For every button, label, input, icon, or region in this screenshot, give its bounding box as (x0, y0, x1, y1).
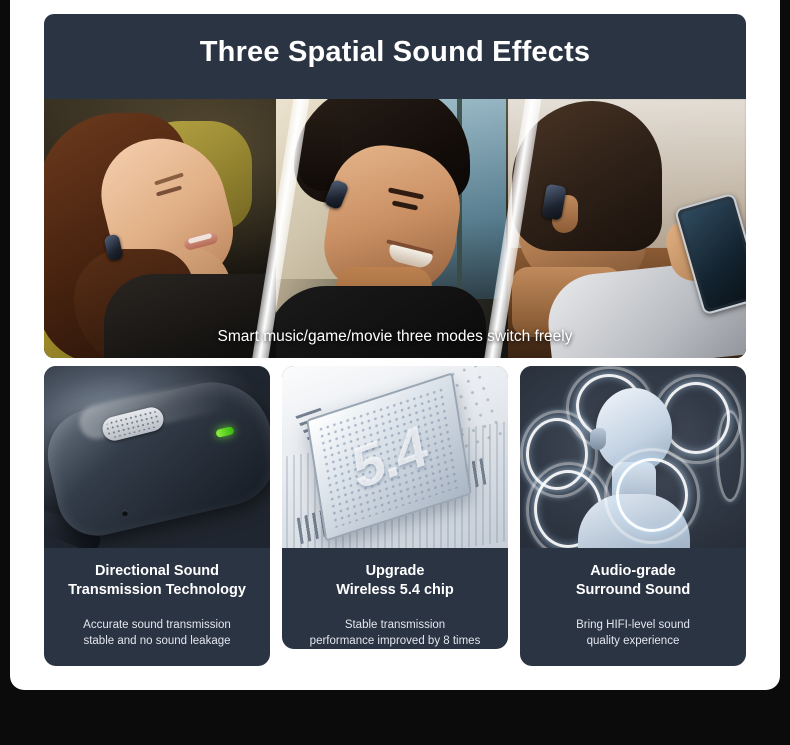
product-page-sheet: Three Spatial Sound Effects (10, 0, 780, 690)
photo-man-movie (508, 99, 746, 358)
card-text-block: Upgrade Wireless 5.4 chip Stable transmi… (282, 548, 508, 649)
card-desc-line2: quality experience (587, 635, 680, 647)
hero-panel-game (276, 99, 514, 358)
card-desc-line1: Stable transmission (345, 619, 445, 631)
card-title-line1: Directional Sound (95, 563, 219, 579)
photo-man-game (276, 99, 514, 358)
photo-woman-music (44, 99, 282, 358)
hero-panel: Three Spatial Sound Effects (44, 14, 746, 358)
card-text-block: Directional Sound Transmission Technolog… (44, 548, 270, 650)
feature-card-surround-sound[interactable]: Audio-grade Surround Sound Bring HIFI-le… (520, 366, 746, 666)
surround-photo (520, 366, 746, 548)
head-ear (590, 428, 606, 450)
man-shirt (276, 286, 486, 358)
card-title-line2: Surround Sound (576, 582, 690, 598)
card-title-line2: Transmission Technology (68, 582, 246, 598)
card-title-line2: Wireless 5.4 chip (336, 582, 454, 598)
feature-card-wireless-chip[interactable]: 5.4 Upgrade Wireless 5.4 chip Stable tra… (282, 366, 508, 649)
card-title-line1: Upgrade (366, 563, 425, 579)
card-desc-line2: stable and no sound leakage (83, 635, 230, 647)
card-image-surround (520, 366, 746, 548)
screenshot-root: Three Spatial Sound Effects (0, 0, 790, 745)
hero-panel-movie (508, 99, 746, 358)
microphone-hole-icon (122, 510, 128, 516)
earbud-photo (44, 366, 270, 548)
feature-card-directional-sound[interactable]: Directional Sound Transmission Technolog… (44, 366, 270, 666)
card-image-chip: 5.4 (282, 366, 508, 548)
sound-ring-icon (604, 448, 700, 544)
card-title: Audio-grade Surround Sound (530, 562, 736, 600)
hero-panel-music (44, 99, 282, 358)
card-description: Stable transmission performance improved… (292, 618, 498, 649)
card-text-block: Audio-grade Surround Sound Bring HIFI-le… (520, 548, 746, 650)
card-title: Upgrade Wireless 5.4 chip (292, 562, 498, 600)
chip-photo: 5.4 (282, 366, 508, 548)
hero-caption: Smart music/game/movie three modes switc… (44, 328, 746, 346)
card-desc-line2: performance improved by 8 times (310, 635, 481, 647)
card-description: Bring HIFI-level sound quality experienc… (530, 618, 736, 650)
page-title: Three Spatial Sound Effects (44, 36, 746, 69)
card-desc-line1: Bring HIFI-level sound (576, 619, 690, 631)
sound-ring-icon (716, 410, 744, 502)
card-desc-line1: Accurate sound transmission (83, 619, 231, 631)
card-description: Accurate sound transmission stable and n… (54, 618, 260, 650)
card-title: Directional Sound Transmission Technolog… (54, 562, 260, 600)
card-image-earbud (44, 366, 270, 548)
hero-image-strip: Smart music/game/movie three modes switc… (44, 99, 746, 358)
card-title-line1: Audio-grade (590, 563, 675, 579)
